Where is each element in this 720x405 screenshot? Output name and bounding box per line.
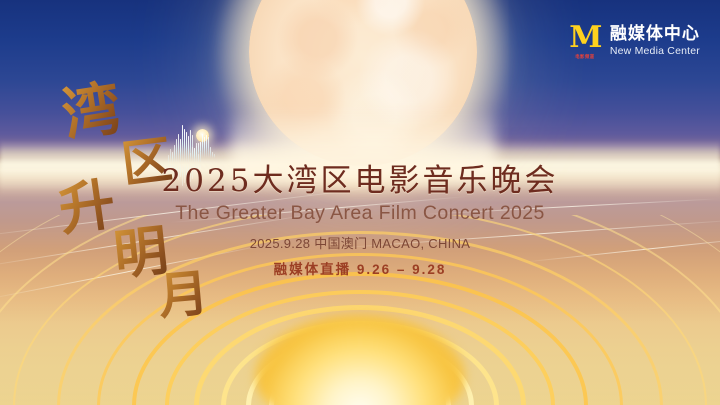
movie-channel-m-icon: M 电影频道: [568, 24, 602, 58]
logo-wordmark: 融媒体中心 New Media Center: [610, 26, 700, 57]
title-chinese: 2025大湾区电影音乐晚会: [0, 166, 720, 197]
logo-name-english: New Media Center: [610, 46, 700, 57]
new-media-center-logo[interactable]: M 电影频道 融媒体中心 New Media Center: [568, 24, 700, 58]
logo-name-chinese: 融媒体中心: [610, 26, 700, 43]
title-block: 2025大湾区电影音乐晚会 The Greater Bay Area Film …: [0, 166, 720, 276]
logo-letter-m: M: [568, 24, 602, 52]
date-and-venue: 2025.9.28 中国澳门 MACAO, CHINA: [0, 237, 720, 250]
logo-movie-channel-label: 电影频道: [568, 54, 602, 59]
broadcast-dates: 融媒体直播 9.26 – 9.28: [0, 263, 720, 277]
audio-waveform-right: [190, 136, 215, 158]
title-english: The Greater Bay Area Film Concert 2025: [0, 204, 720, 224]
concert-poster: 湾 区 升 明 月 2025大湾区电影音乐晚会 The Greater Bay …: [0, 0, 720, 405]
